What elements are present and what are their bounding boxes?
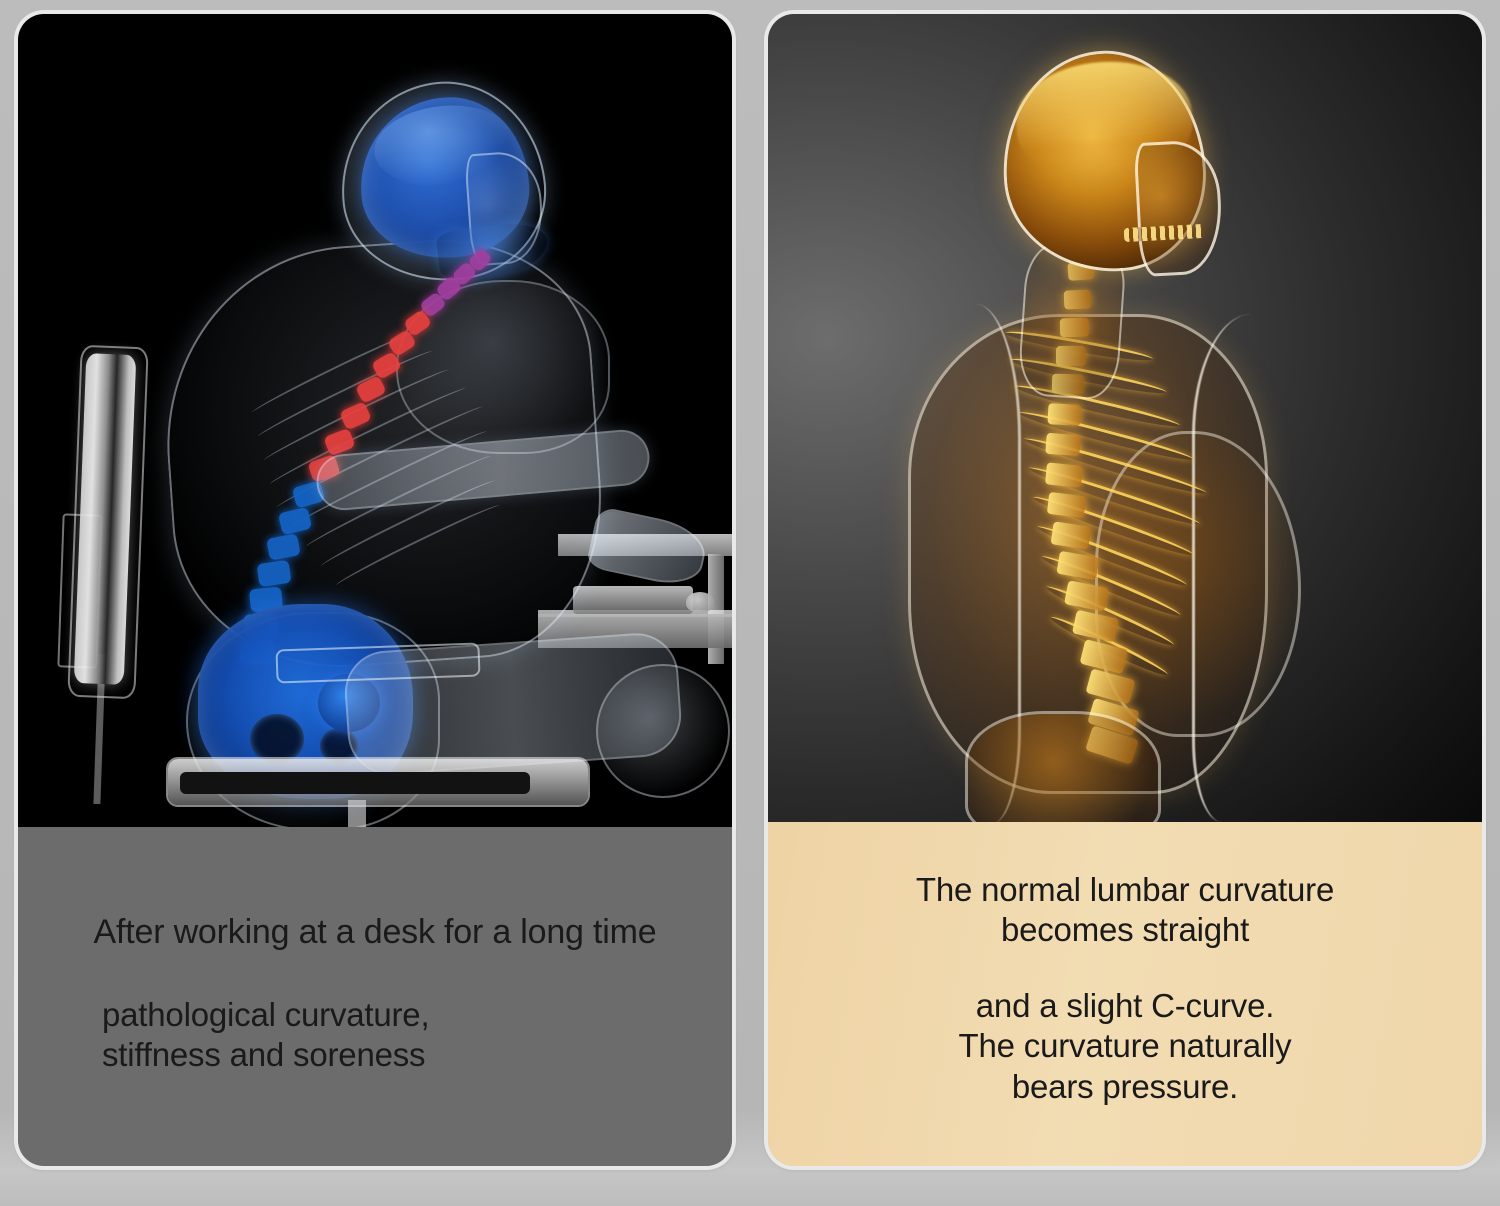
bad-posture-caption-line-2: pathological curvature, stiffness and so… bbox=[102, 995, 429, 1076]
front-outline bbox=[1192, 314, 1291, 822]
bad-posture-panel: After working at a desk for a long time … bbox=[18, 14, 732, 1166]
hand-silhouette bbox=[588, 508, 708, 588]
golden-vertebra bbox=[1048, 403, 1082, 425]
bad-posture-scene bbox=[18, 14, 732, 827]
golden-face-profile bbox=[1137, 142, 1222, 274]
bad-posture-caption: After working at a desk for a long time … bbox=[18, 827, 732, 1166]
normal-posture-caption-line-1: The normal lumbar curvature becomes stra… bbox=[768, 870, 1482, 951]
golden-vertebra bbox=[1045, 462, 1083, 487]
golden-vertebra bbox=[1047, 492, 1086, 518]
normal-posture-caption-line-2: and a slight C-curve. The curvature natu… bbox=[768, 986, 1482, 1107]
knee-silhouette bbox=[598, 666, 728, 796]
vertebra bbox=[257, 560, 291, 587]
pelvis-foramen-one bbox=[250, 714, 304, 764]
keyboard-icon bbox=[573, 586, 693, 614]
normal-posture-caption: The normal lumbar curvature becomes stra… bbox=[768, 822, 1482, 1166]
chair-lumbar-support-icon bbox=[275, 642, 480, 683]
monitor-bezel-icon bbox=[67, 345, 148, 699]
golden-pelvis bbox=[968, 714, 1158, 822]
bad-posture-caption-line-1: After working at a desk for a long time bbox=[18, 912, 732, 953]
chair-seat-cushion-icon bbox=[180, 772, 530, 794]
normal-posture-xray-image bbox=[768, 14, 1482, 822]
normal-posture-panel: The normal lumbar curvature becomes stra… bbox=[768, 14, 1482, 1166]
mouse-icon bbox=[686, 592, 714, 612]
golden-vertebra bbox=[1045, 433, 1081, 456]
comparison-page: After working at a desk for a long time … bbox=[0, 0, 1500, 1206]
chair-post-icon bbox=[348, 800, 366, 827]
bad-posture-xray-image bbox=[18, 14, 732, 827]
normal-posture-scene bbox=[768, 14, 1482, 822]
